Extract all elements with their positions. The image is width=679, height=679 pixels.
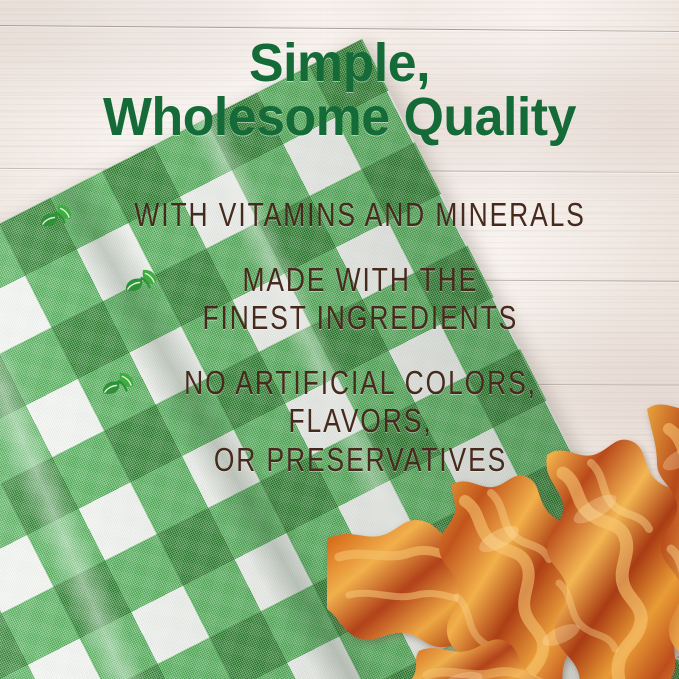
- leaf-sprig-icon: [98, 369, 138, 403]
- marketing-graphic: Simple, Wholesome Quality WITH VITAMINS …: [0, 0, 679, 679]
- list-item-line: MADE WITH THE: [203, 261, 519, 300]
- list-item-line: WITH VITAMINS AND MINERALS: [135, 196, 586, 235]
- leaf-sprig-icon: [36, 201, 76, 235]
- leaf-sprig-icon: [121, 266, 161, 300]
- list-item-text: WITH VITAMINS AND MINERALS: [78, 196, 642, 235]
- bacon-strips-image: [379, 389, 679, 679]
- list-item-text: MADE WITH THE FINEST INGREDIENTS: [163, 261, 558, 338]
- list-item: WITH VITAMINS AND MINERALS: [0, 196, 679, 235]
- page-title-line2: Wholesome Quality: [14, 92, 666, 143]
- list-item: MADE WITH THE FINEST INGREDIENTS: [0, 261, 679, 338]
- page-title-line1: Simple,: [14, 38, 666, 89]
- list-item-line: FINEST INGREDIENTS: [203, 299, 519, 338]
